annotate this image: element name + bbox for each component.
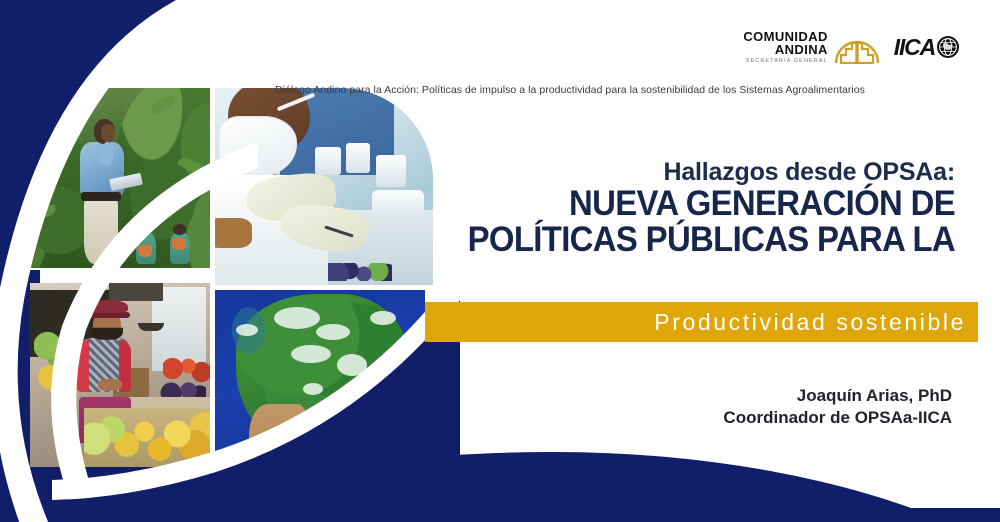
title-line-1: NUEVA GENERACIÓN DE [372, 186, 955, 222]
logo-ca-line1: COMUNIDAD [743, 30, 827, 43]
author-name: Joaquín Arias, PhD [723, 385, 952, 407]
title-kicker: Hallazgos desde OPSAa: [335, 158, 955, 186]
presentation-slide: COMUNIDAD ANDINA SECRETARÍA GENERAL IICA… [0, 0, 1000, 522]
logo-iica: IICA [894, 34, 960, 61]
author-role: Coordinador de OPSAa-IICA [723, 407, 952, 429]
logo-ca-line3: SECRETARÍA GENERAL [743, 59, 827, 65]
logo-comunidad-andina: COMUNIDAD ANDINA SECRETARÍA GENERAL [743, 30, 879, 64]
white-arc-overlay [0, 0, 460, 522]
logo-iica-wordmark: IICA [894, 34, 935, 61]
logo-ca-line2: ANDINA [743, 43, 827, 56]
author-block: Joaquín Arias, PhD Coordinador de OPSAa-… [723, 385, 952, 429]
globe-icon [936, 35, 960, 59]
title-group: Hallazgos desde OPSAa: NUEVA GENERACIÓN … [335, 158, 955, 258]
andean-arch-icon [834, 30, 880, 64]
logo-comunidad-andina-text: COMUNIDAD ANDINA SECRETARÍA GENERAL [743, 30, 827, 64]
highlight-band: Productividad sostenible [425, 302, 978, 342]
title-line-2: POLÍTICAS PÚBLICAS PARA LA [372, 222, 955, 258]
event-subtitle: Diálogo Andino para la Acción: Políticas… [0, 84, 1000, 96]
logo-bar: COMUNIDAD ANDINA SECRETARÍA GENERAL IICA [743, 30, 960, 64]
highlight-band-text: Productividad sostenible [654, 309, 978, 336]
